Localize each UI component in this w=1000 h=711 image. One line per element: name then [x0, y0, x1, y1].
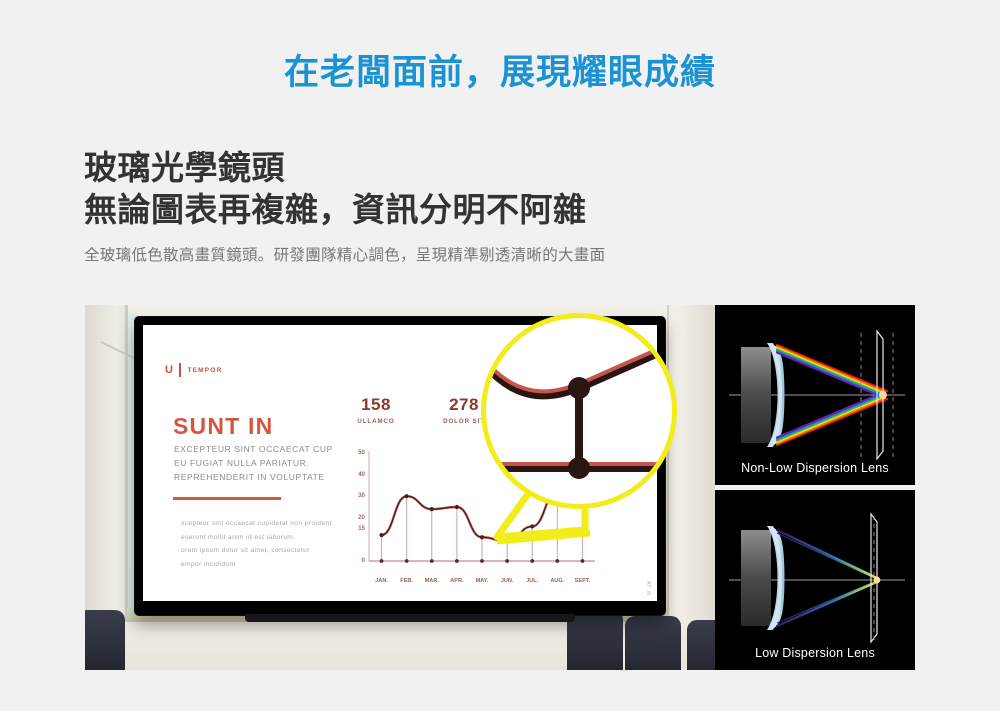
slide-body-line: orem ipsum dolor sit amet, consectetur [181, 544, 332, 558]
chart-x-tick-label: APR. [450, 578, 463, 584]
conference-chair [625, 616, 681, 670]
display-base [245, 614, 575, 622]
chart-data-point [430, 507, 434, 511]
chart-data-point [505, 539, 509, 543]
banner-title: 在老闆面前，展現耀眼成績 [0, 52, 1000, 94]
slide-logo: U TEMPOR [165, 363, 222, 377]
slide-title: SUNT IN [173, 413, 273, 440]
slide-logo-mark: U [165, 364, 173, 376]
slide-logo-divider [179, 363, 181, 377]
chart-axis-point [480, 559, 484, 563]
conference-chair [687, 620, 715, 670]
slide-subtitle-line: EU FUGIAT NULLA PARIATUR. [174, 457, 333, 471]
magnifier-lens [481, 313, 677, 509]
chart-y-tick-label: 20 [349, 514, 365, 521]
chart-y-tick-label: 40 [349, 471, 365, 478]
chart-x-tick-label: JUL. [526, 578, 538, 584]
wall-right-panel [667, 305, 715, 670]
chart-axis-point [530, 559, 534, 563]
conference-room-photo: U TEMPOR SUNT IN EXCEPTEUR SINT OCCAECAT… [85, 305, 715, 670]
chart-y-tick-label: 15 [349, 525, 365, 532]
lens-label: Non-Low Dispersion Lens [715, 461, 915, 475]
non-low-dispersion-lens-diagram: Non-Low Dispersion Lens [715, 305, 915, 485]
chart-data-point [480, 535, 484, 539]
slide-body-line: xcepteur sint occaecat cupidatat non pro… [181, 517, 332, 531]
slide-subtitle-line: EXCEPTEUR SINT OCCAECAT CUP [174, 443, 333, 457]
chart-data-point [379, 533, 383, 537]
section-description: 全玻璃低色散高畫質鏡頭。研發團隊精心調色，呈現精準剔透清晰的大畫面 [84, 245, 914, 267]
chart-axis-point [505, 559, 509, 563]
chart-x-tick-label: AUG. [550, 578, 564, 584]
chart-data-point [455, 505, 459, 509]
slide-body-text: xcepteur sint occaecat cupidatat non pro… [181, 517, 332, 571]
banner: 在老闆面前，展現耀眼成績 [0, 52, 1000, 94]
chart-axis-point [455, 559, 459, 563]
chart-axis-point [430, 559, 434, 563]
chart-data-point [530, 524, 534, 528]
chart-axis-point [581, 559, 585, 563]
product-feature-page: 在老闆面前，展現耀眼成績 玻璃光學鏡頭 無論圖表再複雜，資訊分明不阿雜 全玻璃低… [0, 0, 1000, 711]
chart-x-tick-label: FEB. [400, 578, 413, 584]
slide-subtitle: EXCEPTEUR SINT OCCAECAT CUP EU FUGIAT NU… [174, 443, 333, 484]
lens-diagram-panel: Non-Low Dispersion Lens [715, 305, 915, 670]
chart-y-tick-label: 0 [349, 557, 365, 564]
conference-chair [567, 610, 623, 670]
chart-x-tick-label: MAR. [425, 578, 439, 584]
section-heading-line-2: 無論圖表再複雜，資訊分明不阿雜 [84, 189, 914, 231]
chart-x-tick-label: SEPT. [575, 578, 591, 584]
chart-axis-point [555, 559, 559, 563]
chart-stat: 158 ULLAMCO [343, 395, 409, 425]
slide-subtitle-line: REPREHENDERIT IN VOLUPTATE [174, 471, 333, 485]
chart-stat-caption: ULLAMCO [343, 418, 409, 425]
conference-chair [85, 610, 125, 670]
slide-body-line: eserunt mollit anim id est laborum. [181, 531, 332, 545]
chart-x-tick-label: JUN. [501, 578, 514, 584]
chart-axis-point [380, 559, 384, 563]
chart-data-point [405, 494, 409, 498]
media-row: U TEMPOR SUNT IN EXCEPTEUR SINT OCCAECAT… [85, 305, 915, 670]
section-heading-line-1: 玻璃光學鏡頭 [84, 147, 914, 189]
slide-body-line: empor incididunt [181, 558, 332, 572]
chart-y-tick-label: 30 [349, 492, 365, 499]
chart-stat-value: 158 [343, 395, 409, 415]
slide-divider-rule [173, 497, 281, 500]
lens-label: Low Dispersion Lens [715, 646, 915, 660]
chart-y-tick-label: 50 [349, 449, 365, 456]
chart-x-tick-label: JAN. [375, 578, 388, 584]
section-headings: 玻璃光學鏡頭 無論圖表再複雜，資訊分明不阿雜 全玻璃低色散高畫質鏡頭。研發團隊精… [84, 147, 914, 268]
slide-logo-word: TEMPOR [187, 367, 222, 374]
chart-x-tick-label: MAY. [476, 578, 489, 584]
slide-corner-note: AT. N [645, 581, 651, 595]
chart-axis-point [405, 559, 409, 563]
low-dispersion-lens-diagram: Low Dispersion Lens [715, 490, 915, 670]
